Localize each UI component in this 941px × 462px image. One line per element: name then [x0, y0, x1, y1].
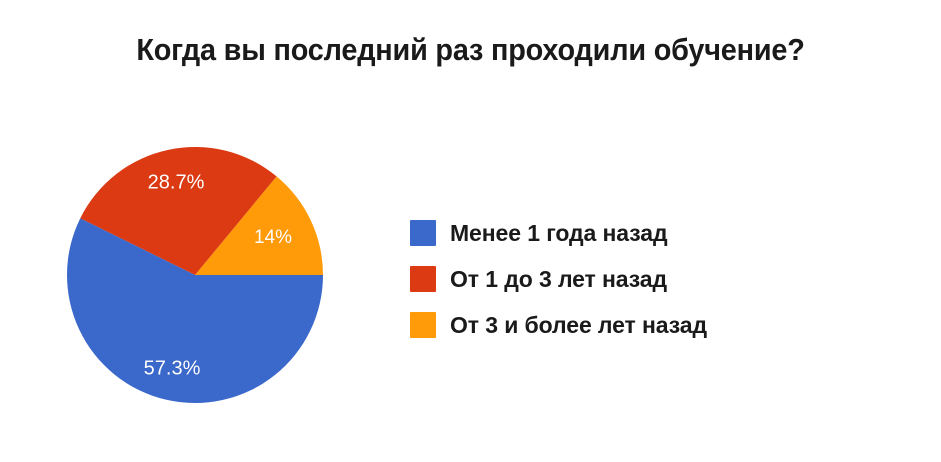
legend-item-label: Менее 1 года назад	[450, 220, 668, 247]
legend-swatch-icon-orange	[410, 312, 436, 338]
page-title: Когда вы последний раз проходили обучени…	[33, 30, 908, 70]
legend-item-label: От 3 и более лет назад	[450, 312, 707, 339]
pie-chart-svg	[67, 147, 323, 403]
chart-legend: Менее 1 года назад От 1 до 3 лет назад О…	[410, 210, 830, 348]
legend-item-ot-1-do-3-let[interactable]: От 1 до 3 лет назад	[410, 256, 830, 302]
pie-chart	[67, 147, 323, 403]
legend-item-label: От 1 до 3 лет назад	[450, 266, 667, 293]
legend-swatch-icon-blue	[410, 220, 436, 246]
legend-swatch-icon-red	[410, 266, 436, 292]
chart-canvas: Когда вы последний раз проходили обучени…	[0, 0, 941, 462]
legend-item-ot-3-i-bolee-let[interactable]: От 3 и более лет назад	[410, 302, 830, 348]
legend-item-menee-1-goda[interactable]: Менее 1 года назад	[410, 210, 830, 256]
pie-slice-group	[67, 147, 323, 403]
